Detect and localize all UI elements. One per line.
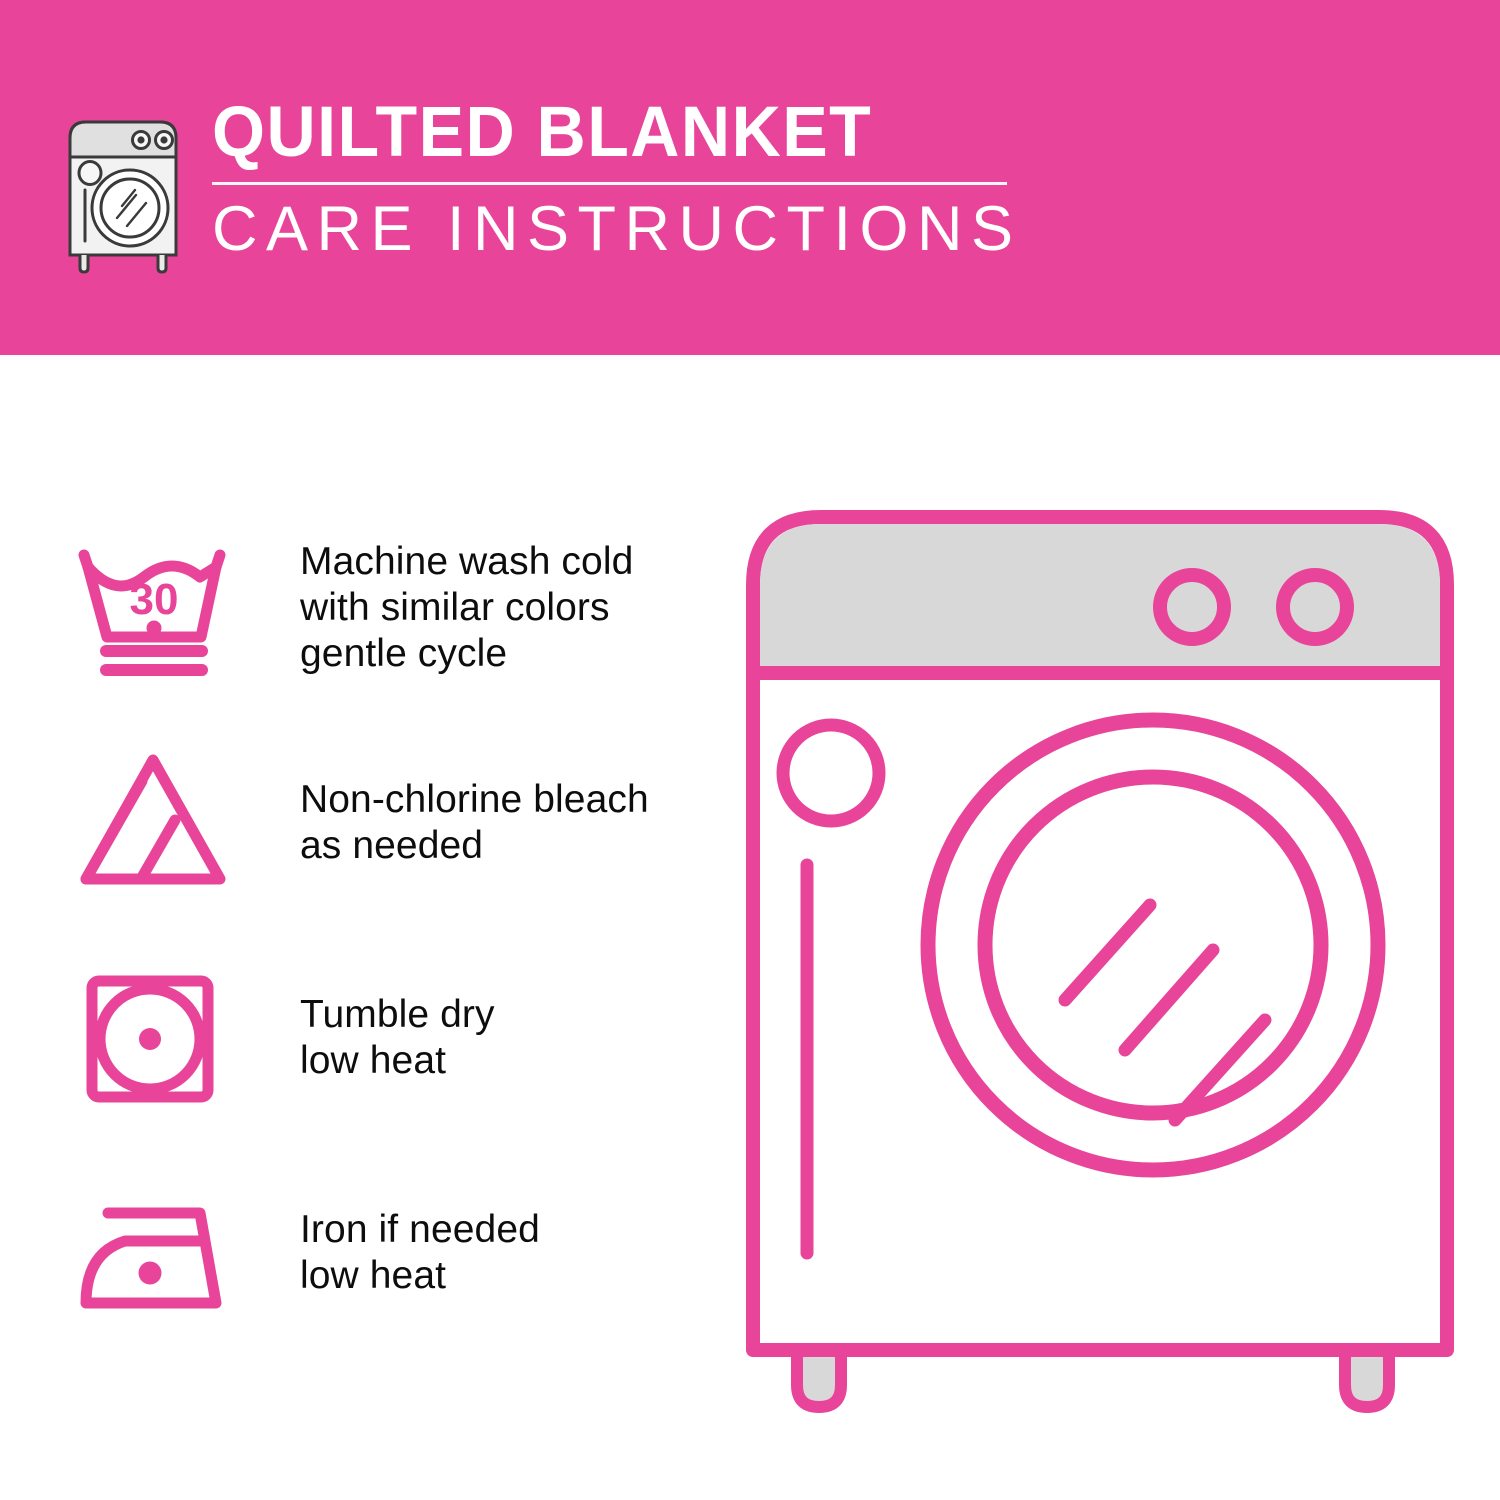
care-label-line: Iron if needed [300, 1207, 540, 1253]
washing-machine-illustration [735, 495, 1465, 1425]
care-label-tumble-dry: Tumble dry low heat [300, 992, 495, 1084]
care-row-machine-wash: 30 Machine wash cold with similar colors… [70, 500, 710, 715]
tumble-dry-low-icon [70, 963, 245, 1113]
washing-machine-icon [62, 110, 184, 275]
title-divider [212, 182, 1007, 185]
care-label-line: Machine wash cold [300, 539, 633, 585]
care-row-bleach: Non-chlorine bleach as needed [70, 715, 710, 930]
care-label-line: low heat [300, 1038, 495, 1084]
care-symbol-slot [70, 1173, 255, 1333]
page-title: QUILTED BLANKET [212, 96, 989, 170]
care-symbol-slot [70, 958, 255, 1118]
header-titles: QUILTED BLANKET CARE INSTRUCTIONS [212, 96, 1022, 262]
wash-tub-30-gentle-icon: 30 [70, 533, 245, 683]
care-instructions-page: QUILTED BLANKET CARE INSTRUCTIONS [0, 0, 1500, 1500]
header-content: QUILTED BLANKET CARE INSTRUCTIONS [62, 96, 1022, 275]
care-row-tumble-dry: Tumble dry low heat [70, 930, 710, 1145]
care-label-bleach: Non-chlorine bleach as needed [300, 777, 649, 869]
wash-temperature-value: 30 [130, 575, 179, 624]
page-subtitle: CARE INSTRUCTIONS [212, 196, 1022, 262]
care-label-line: as needed [300, 823, 649, 869]
machine-control-panel [760, 524, 1440, 673]
care-label-line: gentle cycle [300, 631, 633, 677]
care-label-line: Tumble dry [300, 992, 495, 1038]
care-instruction-list: 30 Machine wash cold with similar colors… [70, 500, 710, 1360]
iron-low-heat-icon [70, 1178, 245, 1328]
care-label-line: Non-chlorine bleach [300, 777, 649, 823]
care-label-line: low heat [300, 1253, 540, 1299]
care-row-iron: Iron if needed low heat [70, 1145, 710, 1360]
care-symbol-slot: 30 [70, 528, 255, 688]
care-label-line: with similar colors [300, 585, 633, 631]
header-banner: QUILTED BLANKET CARE INSTRUCTIONS [0, 0, 1500, 355]
bleach-triangle-nonchlorine-icon [70, 748, 245, 898]
care-label-machine-wash: Machine wash cold with similar colors ge… [300, 539, 633, 677]
care-label-iron: Iron if needed low heat [300, 1207, 540, 1299]
care-symbol-slot [70, 743, 255, 903]
